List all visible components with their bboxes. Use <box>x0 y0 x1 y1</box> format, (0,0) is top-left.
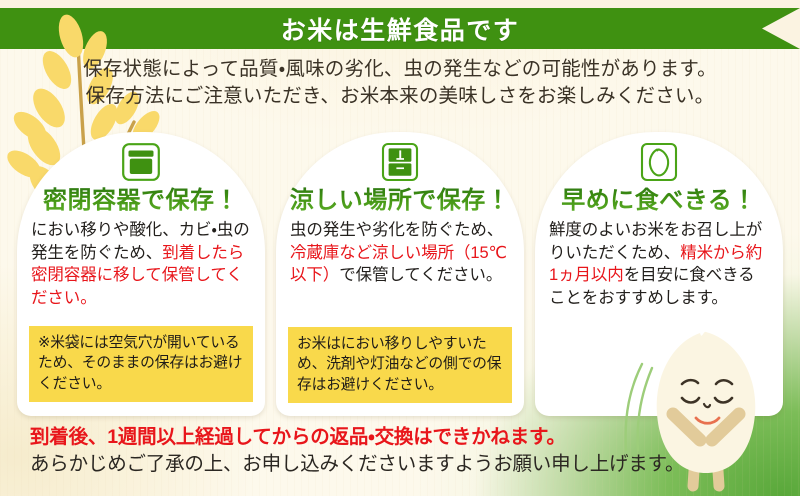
card-icon-wrapper <box>29 132 253 186</box>
card-body: 鮮度のよいお米をお召し上がりいただくため、精米から約1ヵ月以内を目安に食べきるこ… <box>547 219 771 309</box>
footer-line-2: あらかじめご了承の上、お申し込みくださいますようお願い申し上げます。 <box>30 450 730 478</box>
poster-root: お米は生鮮食品です 保存状態によって品質・風味の劣化 <box>0 0 800 496</box>
advice-card-airtight: 密閉容器で保存！ におい移りや酸化、カビ・虫の発生を防ぐため、到着したら密閉容器… <box>17 132 265 416</box>
rice-grain-icon <box>640 142 678 182</box>
card-title: 涼しい場所で保存！ <box>288 187 512 215</box>
rice-grain-mascot-icon <box>638 328 778 496</box>
card-body-tail: で保管してください。 <box>339 266 502 284</box>
card-note: ※米袋には空気穴が開いているため、そのままの保存はお避けください。 <box>29 326 253 403</box>
lead-paragraph: 保存状態によって品質・風味の劣化、虫の発生などの可能性があります。 保存方法にご… <box>0 56 800 110</box>
card-title: 密閉容器で保存！ <box>29 187 253 215</box>
card-icon-wrapper <box>547 132 771 186</box>
card-note: お米はにおい移りしやすいため、洗剤や灯油などの側での保存はお避けください。 <box>288 327 512 404</box>
advice-card-cool-place: 涼しい場所で保存！ 虫の発生や劣化を防ぐため、冷蔵庫など涼しい場所（15℃以下）… <box>276 132 524 416</box>
card-title: 早めに食べきる！ <box>547 187 771 215</box>
card-body: 虫の発生や劣化を防ぐため、冷蔵庫など涼しい場所（15℃以下）で保管してください。 <box>288 219 512 287</box>
lead-line-1: 保存状態によって品質・風味の劣化、虫の発生などの可能性があります。 <box>0 56 800 83</box>
refrigerator-icon <box>381 142 419 182</box>
card-body: におい移りや酸化、カビ・虫の発生を防ぐため、到着したら密閉容器に移して保管してく… <box>29 219 253 309</box>
card-body-plain: 虫の発生や劣化を防ぐため、 <box>290 221 503 239</box>
card-icon-wrapper <box>288 132 512 186</box>
lead-line-2: 保存方法にご注意いただき、お米本来の美味しさをお楽しみください。 <box>0 83 800 110</box>
airtight-container-icon <box>121 142 161 182</box>
